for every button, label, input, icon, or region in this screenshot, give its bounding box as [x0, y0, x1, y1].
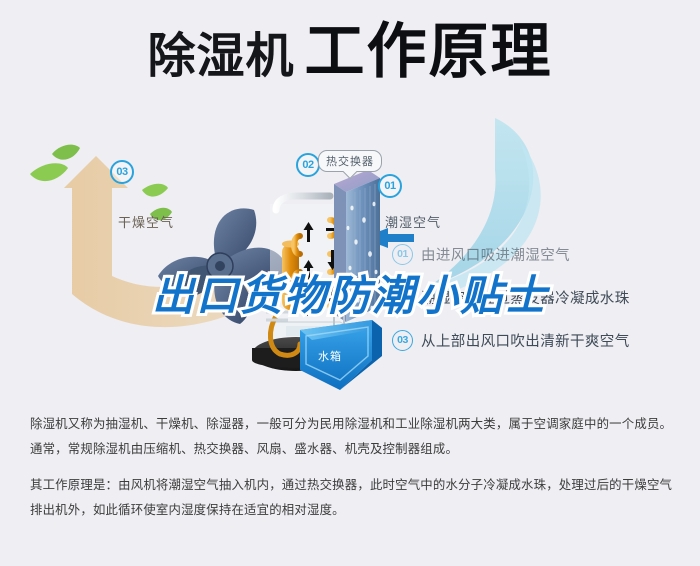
- body-paragraph-1: 除湿机又称为抽湿机、干燥机、除湿器，一般可分为民用除湿机和工业除湿机两大类，属于…: [30, 412, 678, 463]
- page-title-part2: 工作原理: [305, 18, 553, 85]
- label-humid-air: 潮湿空气: [385, 212, 441, 231]
- badge-heat-exchanger: 02: [296, 153, 320, 177]
- page-title-part1: 除湿机: [147, 30, 294, 83]
- step-text: 从上部出风口吹出清新干爽空气: [421, 330, 630, 351]
- page-title: 除湿机工作原理: [0, 22, 700, 82]
- callout-heat-exchanger: 热交换器: [318, 150, 382, 172]
- label-dry-air: 干燥空气: [118, 212, 174, 231]
- badge-humid-air: 01: [378, 174, 402, 198]
- infographic-page: 除湿机工作原理: [0, 0, 700, 566]
- body-paragraph-2: 其工作原理是：由风机将潮湿空气抽入机内，通过热交换器，此时空气中的水分子冷凝成水…: [30, 473, 678, 524]
- label-water-tank: 水箱: [318, 348, 342, 364]
- overlay-headline: 出口货物防潮小贴士: [0, 262, 700, 323]
- step-number: 03: [392, 330, 413, 351]
- list-item: 01 由进风口吸进潮湿空气: [392, 244, 692, 264]
- list-item: 03 从上部出风口吹出清新干爽空气: [392, 330, 692, 350]
- badge-dry-air: 03: [110, 160, 134, 184]
- body-copy: 除湿机又称为抽湿机、干燥机、除湿器，一般可分为民用除湿机和工业除湿机两大类，属于…: [30, 412, 678, 524]
